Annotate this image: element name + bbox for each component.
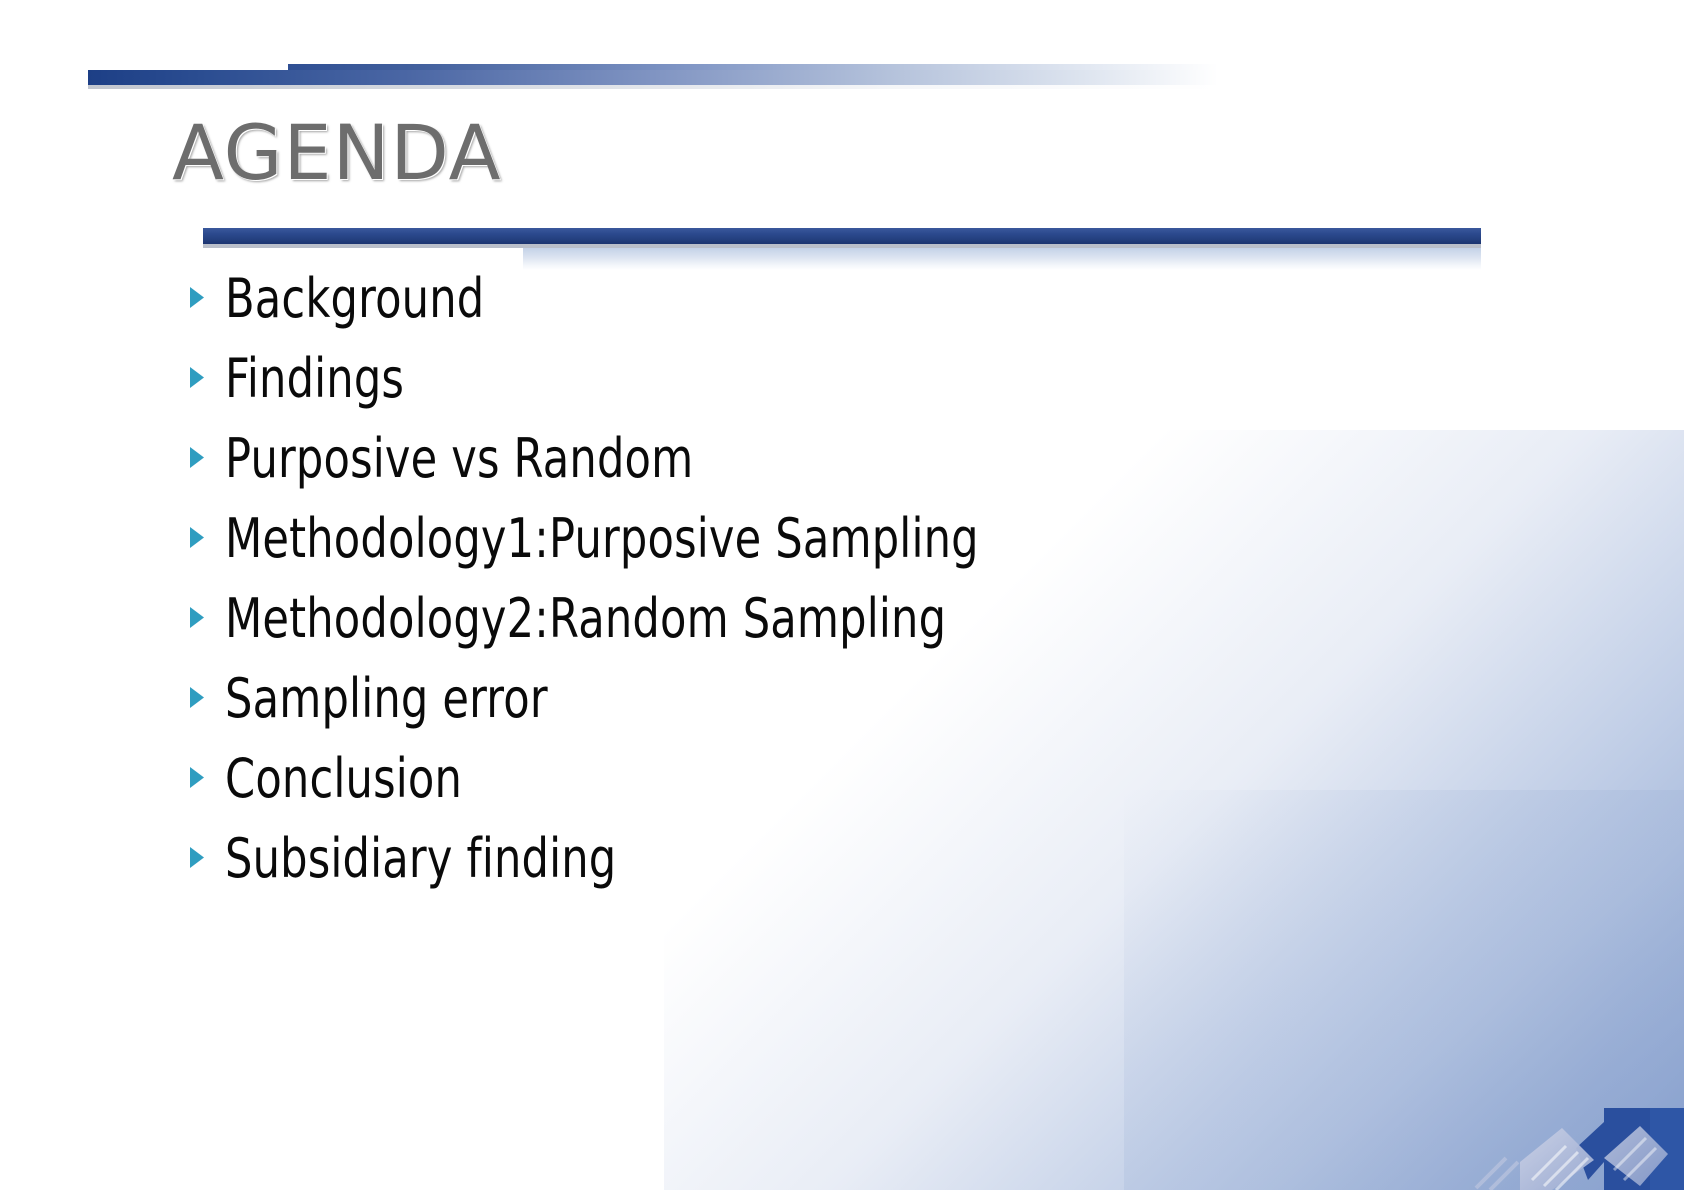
list-item: Methodology2:Random Sampling [190,592,1490,672]
slide-canvas: AGENDA Background Findings Purposive vs … [0,0,1684,1190]
list-item-label: Subsidiary finding [225,832,616,886]
list-item: Sampling error [190,672,1490,752]
top-rule-shadow [88,85,1218,89]
list-item-label: Sampling error [225,672,548,726]
triangle-bullet-icon [190,527,204,548]
list-item-label: Methodology1:Purposive Sampling [225,512,979,566]
list-item-label: Methodology2:Random Sampling [225,592,946,646]
list-item: Background [190,272,1490,352]
list-item: Findings [190,352,1490,432]
title-underline-fade-band [523,248,1481,270]
list-item-label: Conclusion [225,752,462,806]
list-item-label: Background [225,272,484,326]
list-item-label: Purposive vs Random [225,432,693,486]
list-item: Purposive vs Random [190,432,1490,512]
triangle-bullet-icon [190,767,204,788]
list-item-label: Findings [225,352,404,406]
top-rule-thick [88,70,1218,85]
agenda-list: Background Findings Purposive vs Random … [190,272,1490,912]
triangle-bullet-icon [190,607,204,628]
triangle-bullet-icon [190,847,204,868]
list-item: Subsidiary finding [190,832,1490,912]
triangle-bullet-icon [190,367,204,388]
chevron-logo-mark-icon [1454,1030,1684,1190]
triangle-bullet-icon [190,447,204,468]
title-underline-rule [203,228,1481,244]
triangle-bullet-icon [190,287,204,308]
triangle-bullet-icon [190,687,204,708]
list-item: Methodology1:Purposive Sampling [190,512,1490,592]
page-title: AGENDA [172,108,502,197]
list-item: Conclusion [190,752,1490,832]
